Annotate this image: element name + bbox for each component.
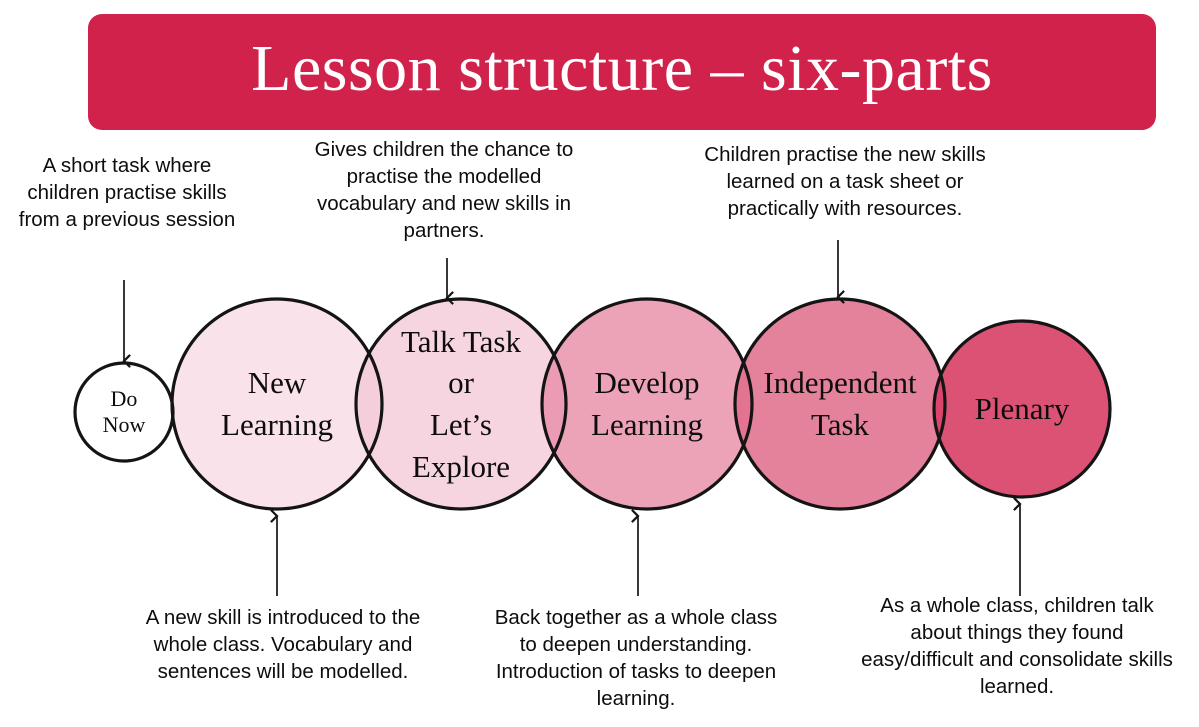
annotation-new-learning: A new skill is introduced to the whole c… bbox=[137, 604, 429, 685]
annotation-do-now: A short task where children practise ski… bbox=[12, 152, 242, 233]
annotation-independent-task: Children practise the new skills learned… bbox=[700, 141, 990, 222]
annotation-plenary: As a whole class, children talk about th… bbox=[857, 592, 1177, 700]
annotation-talk-task: Gives children the chance to practise th… bbox=[296, 136, 592, 244]
circle-fills bbox=[75, 299, 1110, 509]
annotation-develop-learning: Back together as a whole class to deepen… bbox=[487, 604, 785, 712]
slide-canvas: Lesson structure – six-parts bbox=[0, 0, 1199, 727]
